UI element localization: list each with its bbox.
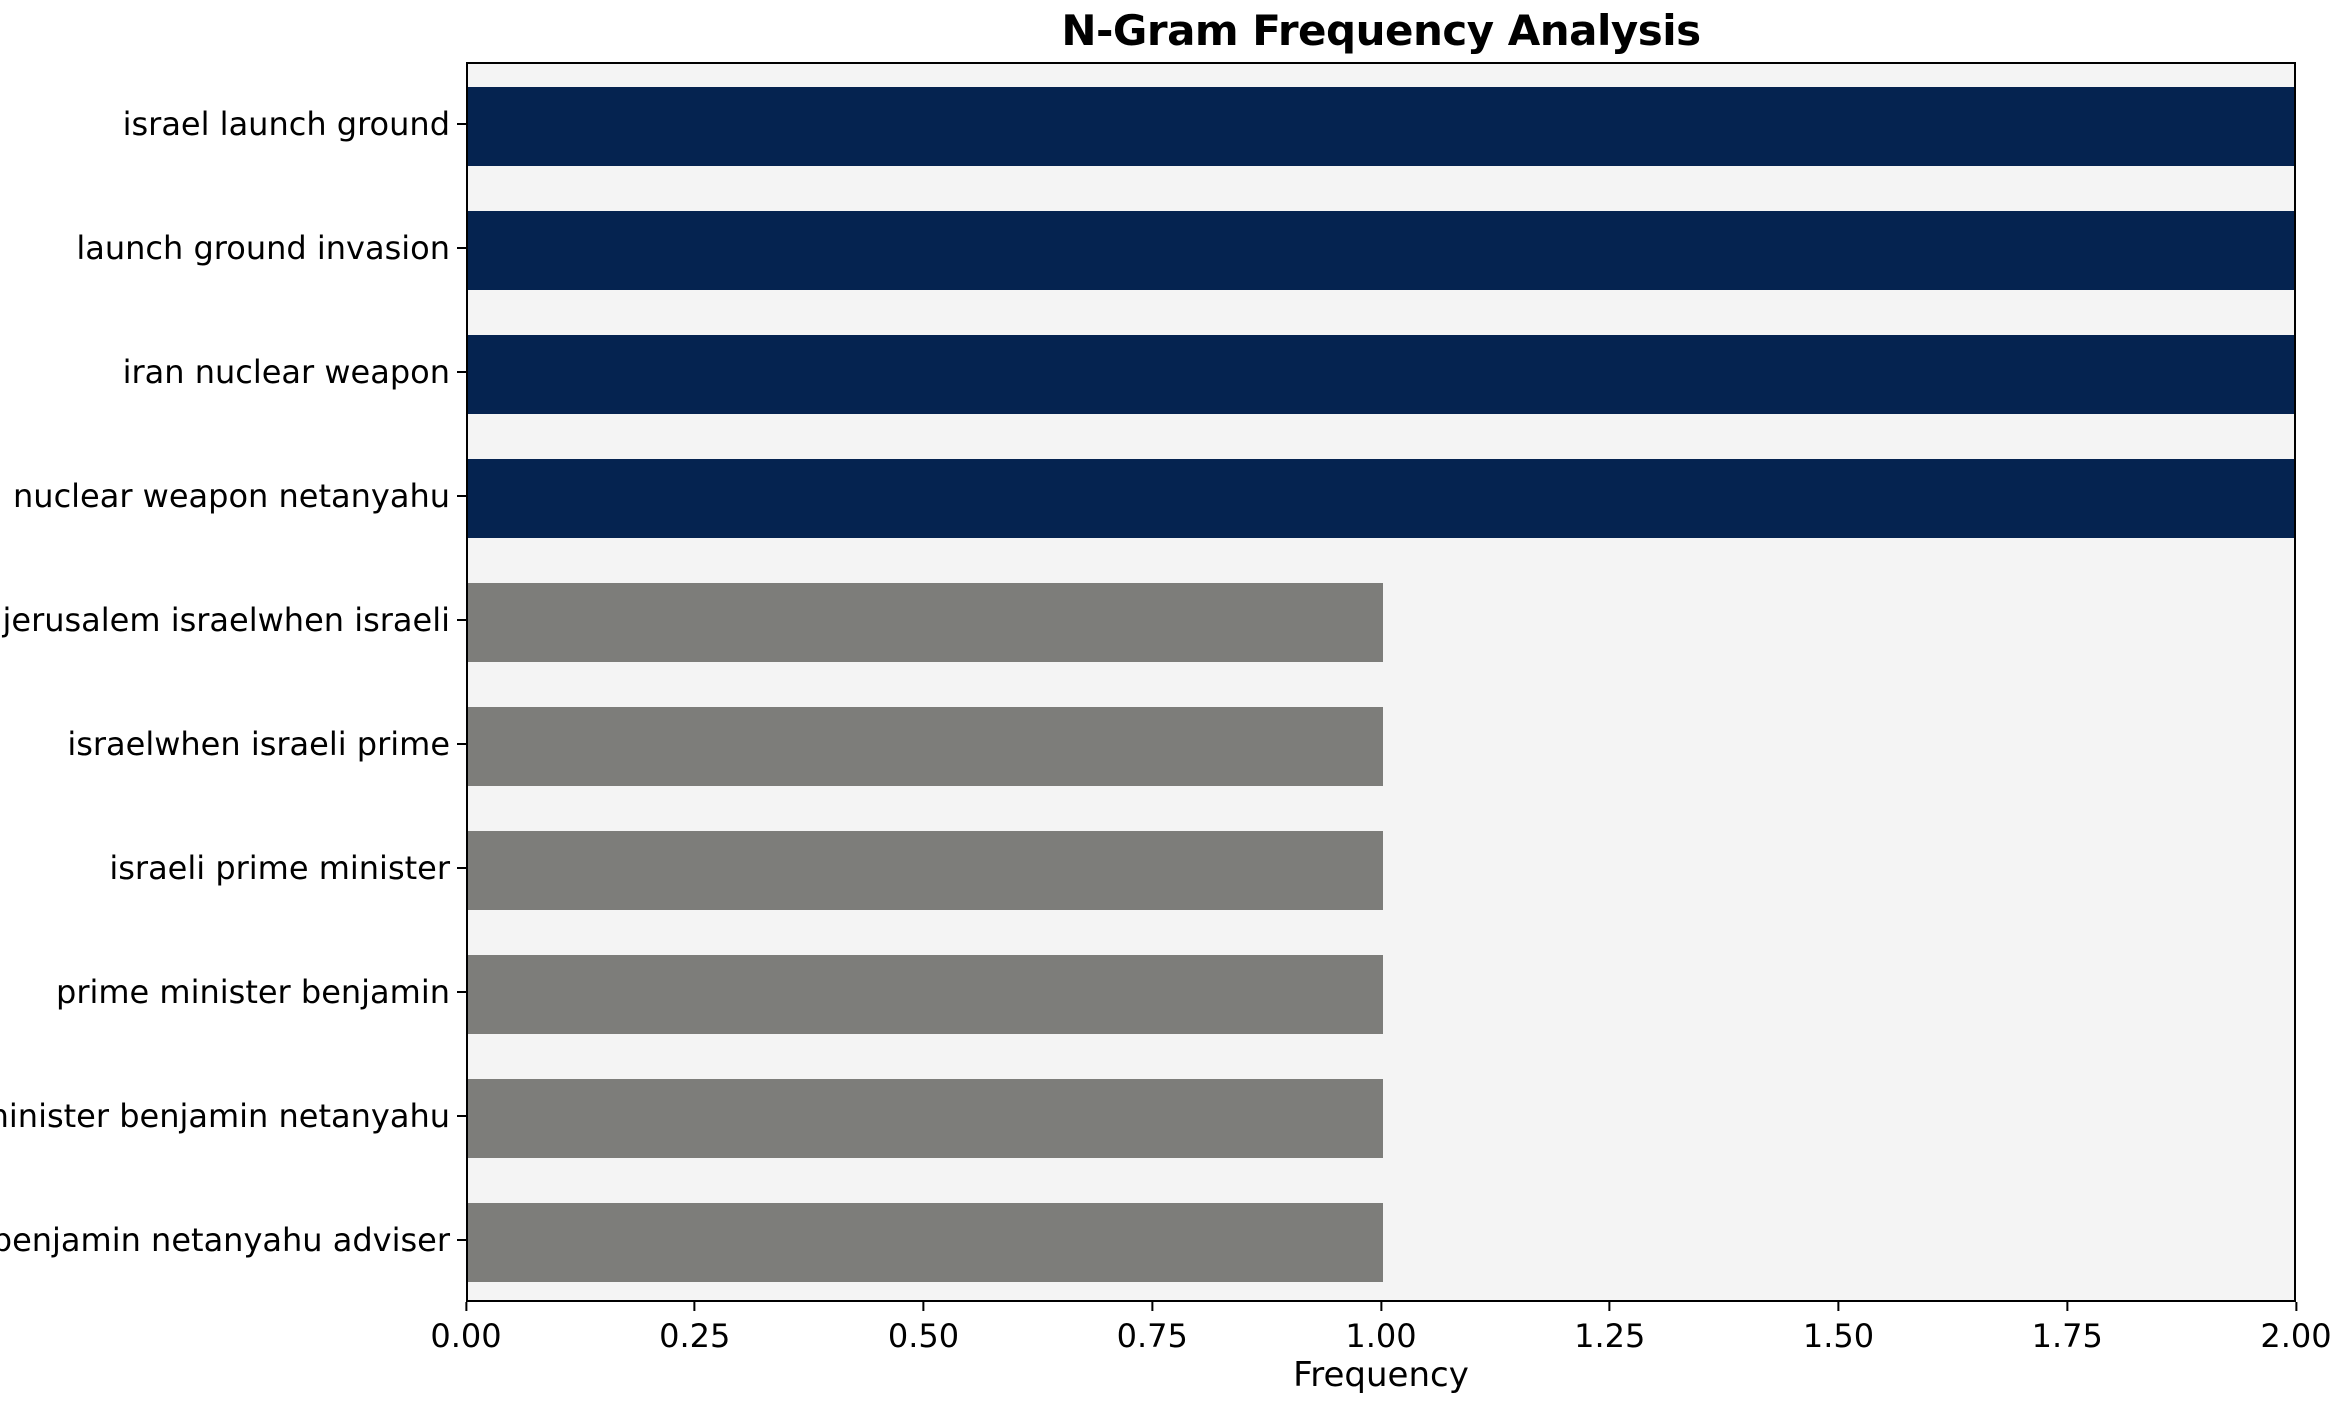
x-axis-tick-label: 1.00 [1345,1317,1416,1355]
y-tick-mark-icon [457,867,466,869]
y-axis-tick-label: minister benjamin netanyahu [0,1096,450,1136]
y-axis-tick: minister benjamin netanyahu [0,1096,466,1136]
y-axis-tick-label: jerusalem israelwhen israeli [2,600,450,640]
x-axis-tick: 0.75 [1117,1302,1188,1355]
plot-area [466,62,2296,1302]
x-tick-mark-icon [465,1302,467,1311]
y-axis-tick: launch ground invasion [76,228,466,268]
x-axis-tick-label: 0.50 [888,1317,959,1355]
bar [468,1203,1383,1282]
x-axis-tick: 0.50 [888,1302,959,1355]
y-axis-tick-label: launch ground invasion [76,228,450,268]
chart-figure: N-Gram Frequency Analysis israel launch … [0,0,2345,1414]
x-axis-title: Frequency [466,1355,2296,1395]
y-axis-tick: benjamin netanyahu adviser [0,1220,466,1260]
x-tick-mark-icon [2295,1302,2297,1311]
y-tick-mark-icon [457,619,466,621]
x-axis-tick: 1.75 [2032,1302,2103,1355]
bar [468,1079,1383,1158]
bar [468,459,2296,538]
y-axis-tick-label: benjamin netanyahu adviser [0,1220,450,1260]
y-tick-mark-icon [457,743,466,745]
y-axis-tick-label: prime minister benjamin [56,972,450,1012]
y-tick-mark-icon [457,1115,466,1117]
y-axis-tick: israel launch ground [123,104,466,144]
x-axis-tick: 0.25 [659,1302,730,1355]
y-axis-tick-label: israel launch ground [123,104,450,144]
y-axis-tick: nuclear weapon netanyahu [13,476,466,516]
page-title: N-Gram Frequency Analysis [466,6,2296,55]
x-tick-mark-icon [1609,1302,1611,1311]
x-tick-mark-icon [1151,1302,1153,1311]
y-axis-tick-label: nuclear weapon netanyahu [13,476,450,516]
x-axis-tick: 0.00 [430,1302,501,1355]
bar [468,831,1383,910]
y-tick-mark-icon [457,123,466,125]
y-axis-tick-label: israeli prime minister [109,848,450,888]
x-axis-tick: 1.25 [1574,1302,1645,1355]
x-tick-mark-icon [1380,1302,1382,1311]
x-tick-mark-icon [923,1302,925,1311]
bar [468,335,2296,414]
y-tick-mark-icon [457,991,466,993]
x-axis-tick-label: 1.50 [1803,1317,1874,1355]
bar [468,87,2296,166]
x-axis-tick: 2.00 [2260,1302,2331,1355]
y-axis-tick-label: iran nuclear weapon [123,352,450,392]
y-tick-mark-icon [457,247,466,249]
x-axis-tick: 1.00 [1345,1302,1416,1355]
x-tick-mark-icon [2066,1302,2068,1311]
x-tick-mark-icon [694,1302,696,1311]
y-tick-mark-icon [457,1239,466,1241]
bar [468,955,1383,1034]
y-axis-tick: israeli prime minister [109,848,466,888]
x-axis-tick: 1.50 [1803,1302,1874,1355]
bar [468,583,1383,662]
y-axis-tick: prime minister benjamin [56,972,466,1012]
y-tick-mark-icon [457,371,466,373]
x-tick-mark-icon [1838,1302,1840,1311]
bar [468,211,2296,290]
y-axis-tick: iran nuclear weapon [123,352,466,392]
x-axis-tick-label: 1.25 [1574,1317,1645,1355]
y-axis-tick: jerusalem israelwhen israeli [2,600,466,640]
bar [468,707,1383,786]
x-axis-tick-label: 0.00 [430,1317,501,1355]
x-axis-tick-label: 0.25 [659,1317,730,1355]
y-axis-tick: israelwhen israeli prime [67,724,466,764]
y-axis-tick-labels: israel launch groundlaunch ground invasi… [0,62,466,1302]
x-axis-tick-label: 1.75 [2032,1317,2103,1355]
x-axis-tick-label: 2.00 [2260,1317,2331,1355]
x-axis-tick-label: 0.75 [1117,1317,1188,1355]
y-axis-tick-label: israelwhen israeli prime [67,724,450,764]
bars-layer [468,64,2294,1300]
y-tick-mark-icon [457,495,466,497]
